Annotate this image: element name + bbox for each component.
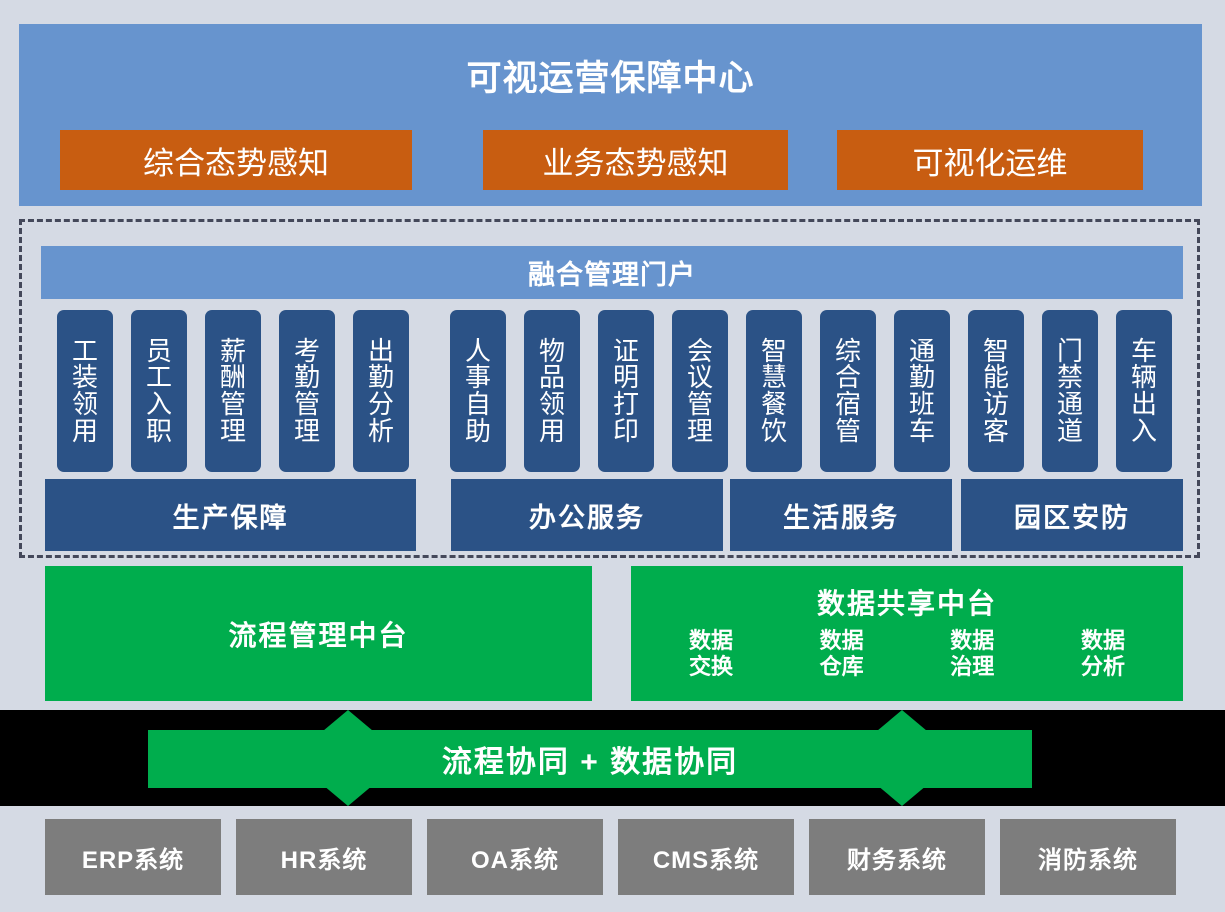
system-box-oa[interactable]: OA系统	[427, 819, 603, 895]
data-platform-item-data-governance[interactable]: 数据治理	[918, 628, 1026, 680]
module-chip-line: 用	[539, 418, 565, 445]
system-box-finance[interactable]: 财务系统	[809, 819, 985, 895]
system-box-fire-safety[interactable]: 消防系统	[1000, 819, 1176, 895]
module-chip-line: 餐	[761, 391, 787, 418]
module-chip-line: 物	[539, 338, 565, 365]
data-platform-item-line: 数据	[1049, 628, 1157, 654]
module-chip-hr-self-service[interactable]: 人事自助	[450, 310, 506, 472]
module-chip-smart-catering[interactable]: 智慧餐饮	[746, 310, 802, 472]
module-chip-line: 勤	[368, 364, 394, 391]
data-platform-title: 数据共享中台	[631, 582, 1183, 622]
data-platform-item-line: 交换	[657, 654, 765, 680]
module-chip-line: 打	[613, 391, 639, 418]
module-chip-goods-requisition[interactable]: 物品领用	[524, 310, 580, 472]
module-chip-line: 管	[220, 391, 246, 418]
module-chip-attendance-analysis[interactable]: 出勤分析	[353, 310, 409, 472]
module-chip-line: 门	[1057, 338, 1083, 365]
category-office-service[interactable]: 办公服务	[451, 479, 723, 551]
module-chip-work-uniform-issuance[interactable]: 工装领用	[57, 310, 113, 472]
system-box-cms[interactable]: CMS系统	[618, 819, 794, 895]
module-chip-line: 入	[1131, 418, 1157, 445]
module-chip-line: 管	[835, 418, 861, 445]
module-chip-line: 班	[909, 391, 935, 418]
module-chip-line: 会	[687, 338, 713, 365]
module-chip-line: 访	[983, 391, 1009, 418]
process-management-platform: 流程管理中台	[45, 566, 592, 701]
module-chip-smart-visitor[interactable]: 智能访客	[968, 310, 1024, 472]
module-chip-line: 禁	[1057, 364, 1083, 391]
module-chip-line: 勤	[909, 364, 935, 391]
system-box-hr[interactable]: HR系统	[236, 819, 412, 895]
capability-pill-visual-ops[interactable]: 可视化运维	[837, 130, 1143, 190]
module-chip-dormitory-management[interactable]: 综合宿管	[820, 310, 876, 472]
module-chip-salary-management[interactable]: 薪酬管理	[205, 310, 261, 472]
module-chip-line: 析	[368, 418, 394, 445]
module-chip-line: 理	[220, 418, 246, 445]
module-chip-line: 分	[368, 391, 394, 418]
module-chip-line: 印	[613, 418, 639, 445]
module-chip-line: 工	[72, 338, 98, 365]
module-chip-line: 自	[465, 391, 491, 418]
module-chip-line: 辆	[1131, 364, 1157, 391]
module-chip-line: 装	[72, 364, 98, 391]
data-platform-item-line: 仓库	[788, 654, 896, 680]
module-chip-line: 理	[687, 418, 713, 445]
module-chip-line: 领	[72, 391, 98, 418]
module-chip-line: 出	[368, 338, 394, 365]
data-platform-item-line: 数据	[788, 628, 896, 654]
module-chip-line: 薪	[220, 338, 246, 365]
category-campus-security[interactable]: 园区安防	[961, 479, 1183, 551]
module-chip-line: 能	[983, 364, 1009, 391]
module-chip-line: 人	[465, 338, 491, 365]
module-chip-line: 酬	[220, 364, 246, 391]
module-chip-line: 道	[1057, 418, 1083, 445]
system-box-erp[interactable]: ERP系统	[45, 819, 221, 895]
module-chip-employee-onboarding[interactable]: 员工入职	[131, 310, 187, 472]
module-chip-line: 议	[687, 364, 713, 391]
module-chip-line: 用	[72, 418, 98, 445]
module-chip-attendance-management[interactable]: 考勤管理	[279, 310, 335, 472]
data-platform-item-line: 治理	[918, 654, 1026, 680]
module-chip-line: 勤	[294, 364, 320, 391]
module-chip-line: 领	[539, 391, 565, 418]
module-chip-line: 管	[687, 391, 713, 418]
category-life-service[interactable]: 生活服务	[730, 479, 952, 551]
module-chip-access-control[interactable]: 门禁通道	[1042, 310, 1098, 472]
module-chip-line: 饮	[761, 418, 787, 445]
module-chip-line: 车	[909, 418, 935, 445]
module-chip-commuter-shuttle[interactable]: 通勤班车	[894, 310, 950, 472]
module-chip-line: 通	[1057, 391, 1083, 418]
module-chip-certificate-printing[interactable]: 证明打印	[598, 310, 654, 472]
module-chip-meeting-management[interactable]: 会议管理	[672, 310, 728, 472]
data-platform-item-row: 数据交换数据仓库数据治理数据分析	[657, 628, 1157, 690]
module-chip-line: 通	[909, 338, 935, 365]
data-platform-item-data-warehouse[interactable]: 数据仓库	[788, 628, 896, 680]
capability-pill-business-situation[interactable]: 业务态势感知	[483, 130, 788, 190]
module-chip-line: 智	[761, 338, 787, 365]
module-chip-line: 员	[146, 338, 172, 365]
module-chip-line: 职	[146, 418, 172, 445]
module-chip-line: 宿	[835, 391, 861, 418]
module-chip-line: 事	[465, 364, 491, 391]
module-chip-row: 工装领用员工入职薪酬管理考勤管理出勤分析人事自助物品领用证明打印会议管理智慧餐饮…	[0, 310, 1225, 472]
module-chip-line: 品	[539, 364, 565, 391]
visual-operations-center-panel: 可视运营保障中心 综合态势感知 业务态势感知 可视化运维	[19, 24, 1202, 206]
module-chip-vehicle-entry-exit[interactable]: 车辆出入	[1116, 310, 1172, 472]
module-chip-line: 明	[613, 364, 639, 391]
page-title: 可视运营保障中心	[19, 50, 1202, 101]
category-production-support[interactable]: 生产保障	[45, 479, 416, 551]
module-chip-line: 管	[294, 391, 320, 418]
module-chip-line: 工	[146, 364, 172, 391]
module-chip-line: 客	[983, 418, 1009, 445]
module-chip-line: 车	[1131, 338, 1157, 365]
module-chip-line: 证	[613, 338, 639, 365]
module-chip-line: 合	[835, 364, 861, 391]
data-platform-item-data-analysis[interactable]: 数据分析	[1049, 628, 1157, 680]
module-chip-line: 慧	[761, 364, 787, 391]
data-sharing-platform: 数据共享中台 数据交换数据仓库数据治理数据分析	[631, 566, 1183, 701]
module-chip-line: 入	[146, 391, 172, 418]
data-platform-item-data-exchange[interactable]: 数据交换	[657, 628, 765, 680]
portal-title-bar: 融合管理门户	[41, 246, 1183, 299]
collaboration-bar-label: 流程协同 + 数据协同	[148, 730, 1032, 788]
module-chip-line: 智	[983, 338, 1009, 365]
module-chip-line: 助	[465, 418, 491, 445]
architecture-diagram: 可视运营保障中心 综合态势感知 业务态势感知 可视化运维 融合管理门户 工装领用…	[0, 0, 1225, 912]
module-chip-line: 理	[294, 418, 320, 445]
data-platform-item-line: 数据	[918, 628, 1026, 654]
module-chip-line: 综	[835, 338, 861, 365]
capability-pill-comprehensive-situation[interactable]: 综合态势感知	[60, 130, 412, 190]
module-chip-line: 考	[294, 338, 320, 365]
data-platform-item-line: 分析	[1049, 654, 1157, 680]
module-chip-line: 出	[1131, 391, 1157, 418]
data-platform-item-line: 数据	[657, 628, 765, 654]
